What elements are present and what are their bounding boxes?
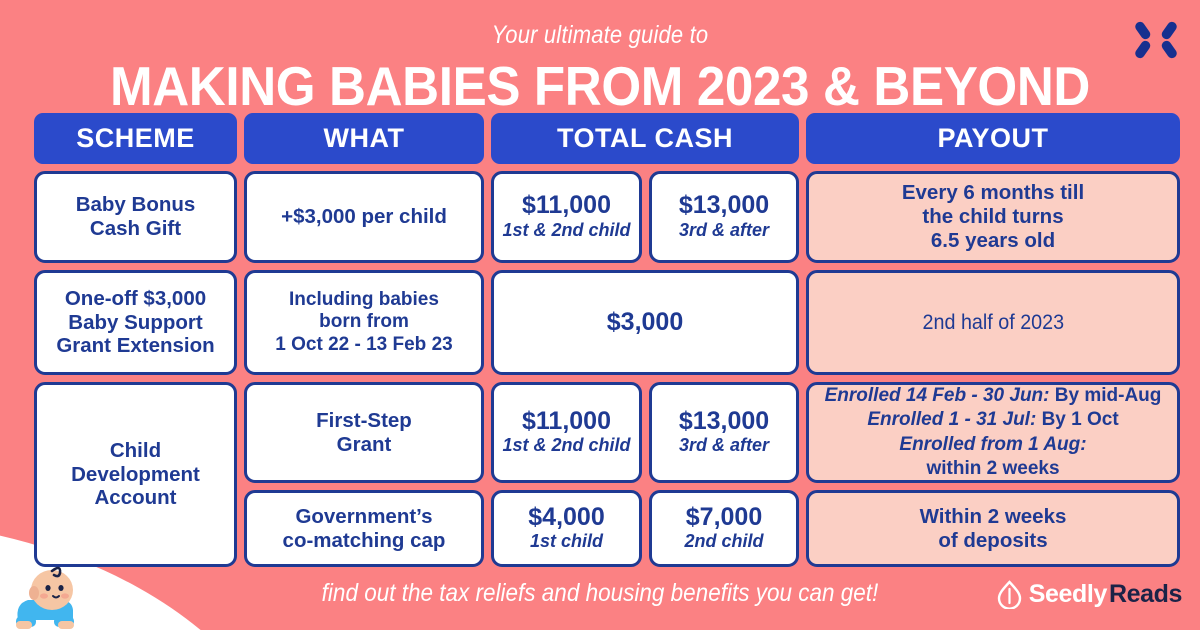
cash-note: 1st & 2nd child bbox=[502, 435, 630, 457]
header-kicker: Your ultimate guide to bbox=[72, 21, 1128, 50]
cash-note: 3rd & after bbox=[679, 220, 769, 242]
cash-note: 2nd child bbox=[684, 531, 763, 553]
payout-line: Enrolled 14 Feb - 30 Jun: By mid-Aug bbox=[825, 384, 1162, 408]
cell-cash-first: $4,000 1st child bbox=[491, 490, 642, 567]
cash-amount: $13,000 bbox=[679, 408, 769, 436]
payout-line-label: Enrolled 1 - 31 Jul: bbox=[867, 409, 1036, 430]
payout-line: Enrolled from 1 Aug: bbox=[899, 433, 1086, 457]
cash-amount: $13,000 bbox=[679, 192, 769, 220]
payout-line-value: within 2 weeks bbox=[926, 458, 1059, 479]
column-header-payout: PAYOUT bbox=[806, 113, 1180, 164]
payout-line: within 2 weeks bbox=[926, 457, 1059, 481]
payout-label: Within 2 weeks of deposits bbox=[920, 505, 1067, 553]
cell-payout: Every 6 months till the child turns 6.5 … bbox=[806, 171, 1180, 263]
cell-what: Including babies born from 1 Oct 22 - 13… bbox=[244, 270, 484, 375]
seedly-reads-logo[interactable]: Seedly Reads bbox=[996, 580, 1182, 609]
what-label: First-Step Grant bbox=[316, 409, 412, 457]
cash-amount: $3,000 bbox=[607, 309, 683, 337]
column-header-total-cash: TOTAL CASH bbox=[491, 113, 799, 164]
cell-payout: Within 2 weeks of deposits bbox=[806, 490, 1180, 567]
cash-amount: $7,000 bbox=[686, 504, 762, 532]
benefits-table: SCHEME WHAT TOTAL CASH PAYOUT Baby Bonus… bbox=[34, 113, 1166, 567]
cell-cash-single: $3,000 bbox=[491, 270, 799, 375]
crawling-baby-icon bbox=[8, 564, 92, 630]
page-title: MAKING BABIES FROM 2023 & BEYOND bbox=[42, 54, 1158, 118]
payout-label: 2nd half of 2023 bbox=[922, 310, 1064, 335]
table-subrow: Government’s co-matching cap $4,000 1st … bbox=[244, 490, 1180, 567]
table-row: Child Development Account First-Step Gra… bbox=[34, 382, 1166, 567]
infographic-canvas: Your ultimate guide to MAKING BABIES FRO… bbox=[0, 0, 1200, 630]
cell-cash-first: $11,000 1st & 2nd child bbox=[491, 382, 642, 483]
payout-label: Every 6 months till the child turns 6.5 … bbox=[902, 181, 1084, 252]
cell-what: Government’s co-matching cap bbox=[244, 490, 484, 567]
footer-tagline: find out the tax reliefs and housing ben… bbox=[60, 579, 1140, 608]
cash-amount: $4,000 bbox=[528, 504, 604, 532]
column-header-scheme: SCHEME bbox=[34, 113, 237, 164]
cell-scheme: One-off $3,000 Baby Support Grant Extens… bbox=[34, 270, 237, 375]
what-label: Government’s co-matching cap bbox=[283, 505, 446, 553]
cell-payout: Enrolled 14 Feb - 30 Jun: By mid-Aug Enr… bbox=[806, 382, 1180, 483]
cell-what: +$3,000 per child bbox=[244, 171, 484, 263]
scheme-label: Child Development Account bbox=[71, 439, 200, 510]
column-header-what: WHAT bbox=[244, 113, 484, 164]
table-header-row: SCHEME WHAT TOTAL CASH PAYOUT bbox=[34, 113, 1166, 164]
what-label: +$3,000 per child bbox=[281, 205, 447, 229]
cash-amount: $11,000 bbox=[522, 408, 611, 436]
cash-note: 1st & 2nd child bbox=[502, 220, 630, 242]
table-subrow: First-Step Grant $11,000 1st & 2nd child… bbox=[244, 382, 1180, 483]
cell-payout: 2nd half of 2023 bbox=[806, 270, 1180, 375]
cash-note: 3rd & after bbox=[679, 435, 769, 457]
cell-scheme: Baby Bonus Cash Gift bbox=[34, 171, 237, 263]
table-row: One-off $3,000 Baby Support Grant Extens… bbox=[34, 270, 1166, 375]
logo-word-seedly: Seedly bbox=[1029, 580, 1107, 609]
cash-amount: $11,000 bbox=[522, 192, 611, 220]
payout-line-value: By mid-Aug bbox=[1055, 385, 1162, 406]
scheme-label: One-off $3,000 Baby Support Grant Extens… bbox=[56, 287, 214, 358]
cash-note: 1st child bbox=[530, 531, 603, 553]
cell-what: First-Step Grant bbox=[244, 382, 484, 483]
what-label: Including babies born from 1 Oct 22 - 13… bbox=[275, 289, 452, 355]
cell-cash-second: $7,000 2nd child bbox=[649, 490, 799, 567]
cell-scheme: Child Development Account bbox=[34, 382, 237, 567]
cell-cash-first: $11,000 1st & 2nd child bbox=[491, 171, 642, 263]
cell-cash-second: $13,000 3rd & after bbox=[649, 171, 799, 263]
seedly-leaf-icon bbox=[996, 580, 1023, 609]
cell-cash-second: $13,000 3rd & after bbox=[649, 382, 799, 483]
payout-line-label: Enrolled from 1 Aug: bbox=[899, 434, 1086, 455]
x-petal-icon bbox=[1134, 18, 1178, 62]
payout-line-value: By 1 Oct bbox=[1042, 409, 1119, 430]
payout-line-label: Enrolled 14 Feb - 30 Jun: bbox=[825, 385, 1050, 406]
table-row: Baby Bonus Cash Gift +$3,000 per child $… bbox=[34, 171, 1166, 263]
payout-line: Enrolled 1 - 31 Jul: By 1 Oct bbox=[867, 408, 1118, 432]
header: Your ultimate guide to MAKING BABIES FRO… bbox=[0, 0, 1200, 118]
scheme-label: Baby Bonus Cash Gift bbox=[76, 193, 196, 241]
logo-word-reads: Reads bbox=[1109, 580, 1182, 609]
